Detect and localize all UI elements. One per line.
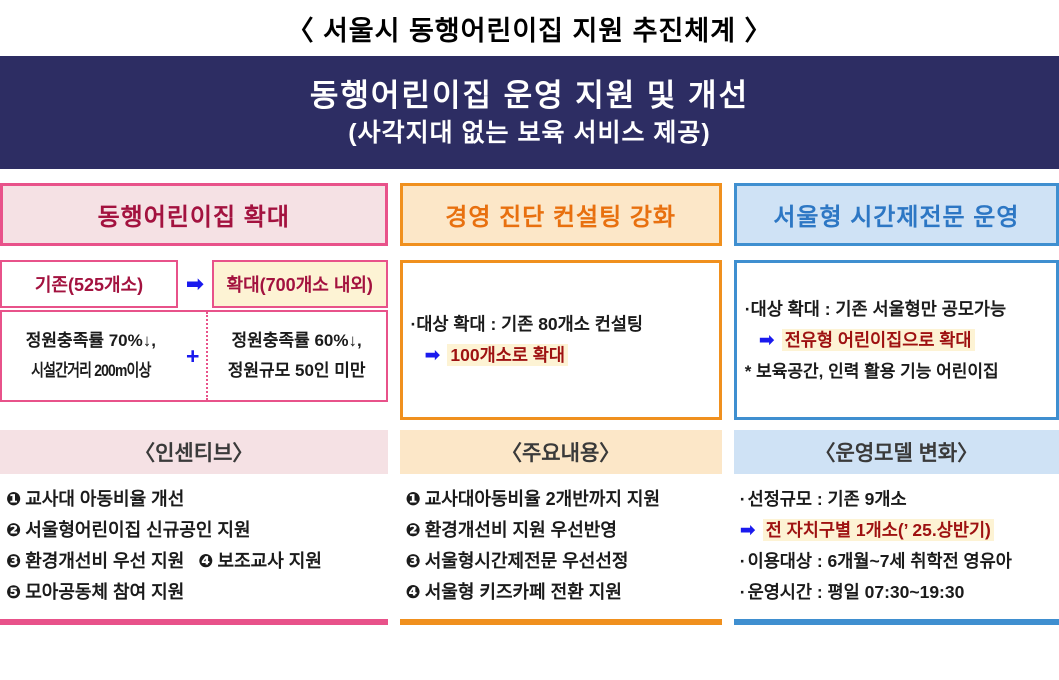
- list-number: ❹: [198, 551, 213, 571]
- list-number: ❶: [6, 489, 21, 509]
- column-expand: 동행어린이집 확대 기존(525개소) ➡ 확대(700개소 내외) 정원충족률…: [0, 183, 388, 625]
- detail-text: 대상 확대 : 기존 서울형만 공모가능: [751, 299, 1007, 319]
- column-header-parttime: 서울형 시간제전문 운영: [734, 183, 1059, 246]
- left-conditions: 정원충족률 70%↓, 시설간거리 200m이상: [2, 312, 180, 400]
- list-text: 서울형어린이집 신규공인 지원: [25, 520, 250, 540]
- list-number: ❸: [406, 551, 421, 571]
- banner-title: 동행어린이집 운영 지원 및 개선: [310, 76, 749, 116]
- list-item: ❹서울형 키즈카페 전환 지원: [406, 577, 718, 608]
- detail-line: ➡전유형 어린이집으로 확대: [745, 325, 1048, 356]
- right-condition-2: 정원규모 50인 미만: [228, 356, 366, 386]
- list-item: ❸서울형시간제전문 우선선정: [406, 546, 718, 577]
- main-banner: 동행어린이집 운영 지원 및 개선 (사각지대 없는 보육 서비스 제공): [0, 56, 1059, 169]
- detail-text: 대상 확대 : 기존 80개소 컨설팅: [416, 314, 643, 334]
- list-number: ❶: [406, 489, 421, 509]
- arrow-right-icon: ➡: [740, 520, 756, 541]
- page-title: 〈 서울시 동행어린이집 지원 추진체계 〉: [0, 0, 1059, 56]
- list-text: 교사대 아동비율 개선: [25, 489, 184, 509]
- right-conditions: 정원충족률 60%↓, 정원규모 50인 미만: [208, 312, 386, 400]
- list-number: ❸: [6, 551, 21, 571]
- list-item: ❷서울형어린이집 신규공인 지원: [6, 515, 384, 546]
- list-item: ·선정규모 : 기존 9개소: [740, 484, 1055, 515]
- banner-subtitle: (사각지대 없는 보육 서비스 제공): [348, 116, 710, 150]
- highlighted-text: 전 자치구별 1개소(’ 25.상반기): [763, 519, 994, 541]
- list-item: ➡전 자치구별 1개소(’ 25.상반기): [740, 515, 1055, 546]
- detail-parttime: ·대상 확대 : 기존 서울형만 공모가능 ➡전유형 어린이집으로 확대 * 보…: [734, 260, 1059, 420]
- column-header-consulting: 경영 진단 컨설팅 강화: [400, 183, 722, 246]
- bullet-mark: ·: [740, 551, 746, 571]
- asterisk-mark: *: [745, 362, 752, 381]
- list-text: 보조교사 지원: [218, 551, 322, 571]
- list-text: 서울형시간제전문 우선선정: [425, 551, 629, 571]
- list-consulting: ❶교사대아동비율 2개반까지 지원 ❷환경개선비 지원 우선반영 ❸서울형시간제…: [400, 474, 722, 625]
- detail-box-parttime: ·대상 확대 : 기존 서울형만 공모가능 ➡전유형 어린이집으로 확대 * 보…: [734, 260, 1059, 420]
- list-item: ❶교사대 아동비율 개선: [6, 484, 384, 515]
- list-text: 서울형 키즈카페 전환 지원: [425, 582, 622, 602]
- section-label-main: 〈주요내용〉: [400, 430, 722, 474]
- left-condition-2: 시설간거리 200m이상: [31, 356, 150, 386]
- list-number: ❺: [6, 582, 21, 602]
- bullet-mark: ·: [740, 489, 746, 509]
- list-number: ❹: [406, 582, 421, 602]
- arrow-right-icon: ➡: [759, 330, 775, 351]
- list-text: 환경개선비 지원 우선반영: [425, 520, 617, 540]
- columns-container: 동행어린이집 확대 기존(525개소) ➡ 확대(700개소 내외) 정원충족률…: [0, 169, 1059, 625]
- before-after-row: 기존(525개소) ➡ 확대(700개소 내외): [0, 260, 388, 308]
- list-text: 교사대아동비율 2개반까지 지원: [425, 489, 660, 509]
- detail-line: * 보육공간, 인력 활용 기능 어린이집: [745, 356, 1048, 387]
- list-item: ❸환경개선비 우선 지원❹보조교사 지원: [6, 546, 384, 577]
- list-item: ❷환경개선비 지원 우선반영: [406, 515, 718, 546]
- bullet-mark: ·: [740, 582, 746, 602]
- detail-consulting: ·대상 확대 : 기존 80개소 컨설팅 ➡100개소로 확대: [400, 260, 722, 420]
- section-label-model: 〈운영모델 변화〉: [734, 430, 1059, 474]
- list-text: 이용대상 : 6개월~7세 취학전 영유아: [748, 551, 1012, 571]
- list-item: ·운영시간 : 평일 07:30~19:30: [740, 577, 1055, 608]
- detail-line: ·대상 확대 : 기존 80개소 컨설팅: [411, 309, 711, 340]
- detail-expand: 기존(525개소) ➡ 확대(700개소 내외) 정원충족률 70%↓, 시설간…: [0, 260, 388, 420]
- before-box: 기존(525개소): [0, 260, 178, 308]
- list-text: 환경개선비 우선 지원: [25, 551, 184, 571]
- list-expand: ❶교사대 아동비율 개선 ❷서울형어린이집 신규공인 지원 ❸환경개선비 우선 …: [0, 474, 388, 625]
- column-parttime: 서울형 시간제전문 운영 ·대상 확대 : 기존 서울형만 공모가능 ➡전유형 …: [734, 183, 1059, 625]
- after-box: 확대(700개소 내외): [212, 260, 388, 308]
- list-number: ❷: [406, 520, 421, 540]
- arrow-right-icon: ➡: [425, 345, 441, 366]
- section-label-incentive: 〈인센티브〉: [0, 430, 388, 474]
- list-text: 선정규모 : 기존 9개소: [748, 489, 907, 509]
- list-item: ·이용대상 : 6개월~7세 취학전 영유아: [740, 546, 1055, 577]
- detail-line: ·대상 확대 : 기존 서울형만 공모가능: [745, 294, 1048, 325]
- list-item: ❺모아공동체 참여 지원: [6, 577, 384, 608]
- highlighted-text: 전유형 어린이집으로 확대: [782, 329, 975, 351]
- detail-box-consulting: ·대상 확대 : 기존 80개소 컨설팅 ➡100개소로 확대: [400, 260, 722, 420]
- detail-text: 보육공간, 인력 활용 기능 어린이집: [756, 362, 999, 381]
- conditions-row: 정원충족률 70%↓, 시설간거리 200m이상 + 정원충족률 60%↓, 정…: [0, 310, 388, 402]
- list-parttime: ·선정규모 : 기존 9개소 ➡전 자치구별 1개소(’ 25.상반기) ·이용…: [734, 474, 1059, 625]
- highlighted-text: 100개소로 확대: [447, 344, 568, 366]
- list-item: ❶교사대아동비율 2개반까지 지원: [406, 484, 718, 515]
- right-condition-1: 정원충족률 60%↓,: [232, 326, 362, 356]
- list-text: 모아공동체 참여 지원: [25, 582, 184, 602]
- detail-line: ➡100개소로 확대: [411, 340, 711, 371]
- left-condition-1: 정원충족률 70%↓,: [26, 326, 156, 356]
- column-consulting: 경영 진단 컨설팅 강화 ·대상 확대 : 기존 80개소 컨설팅 ➡100개소…: [400, 183, 722, 625]
- list-text: 운영시간 : 평일 07:30~19:30: [748, 582, 965, 602]
- arrow-right-icon: ➡: [178, 260, 212, 308]
- plus-icon: +: [180, 312, 208, 400]
- list-number: ❷: [6, 520, 21, 540]
- column-header-expand: 동행어린이집 확대: [0, 183, 388, 246]
